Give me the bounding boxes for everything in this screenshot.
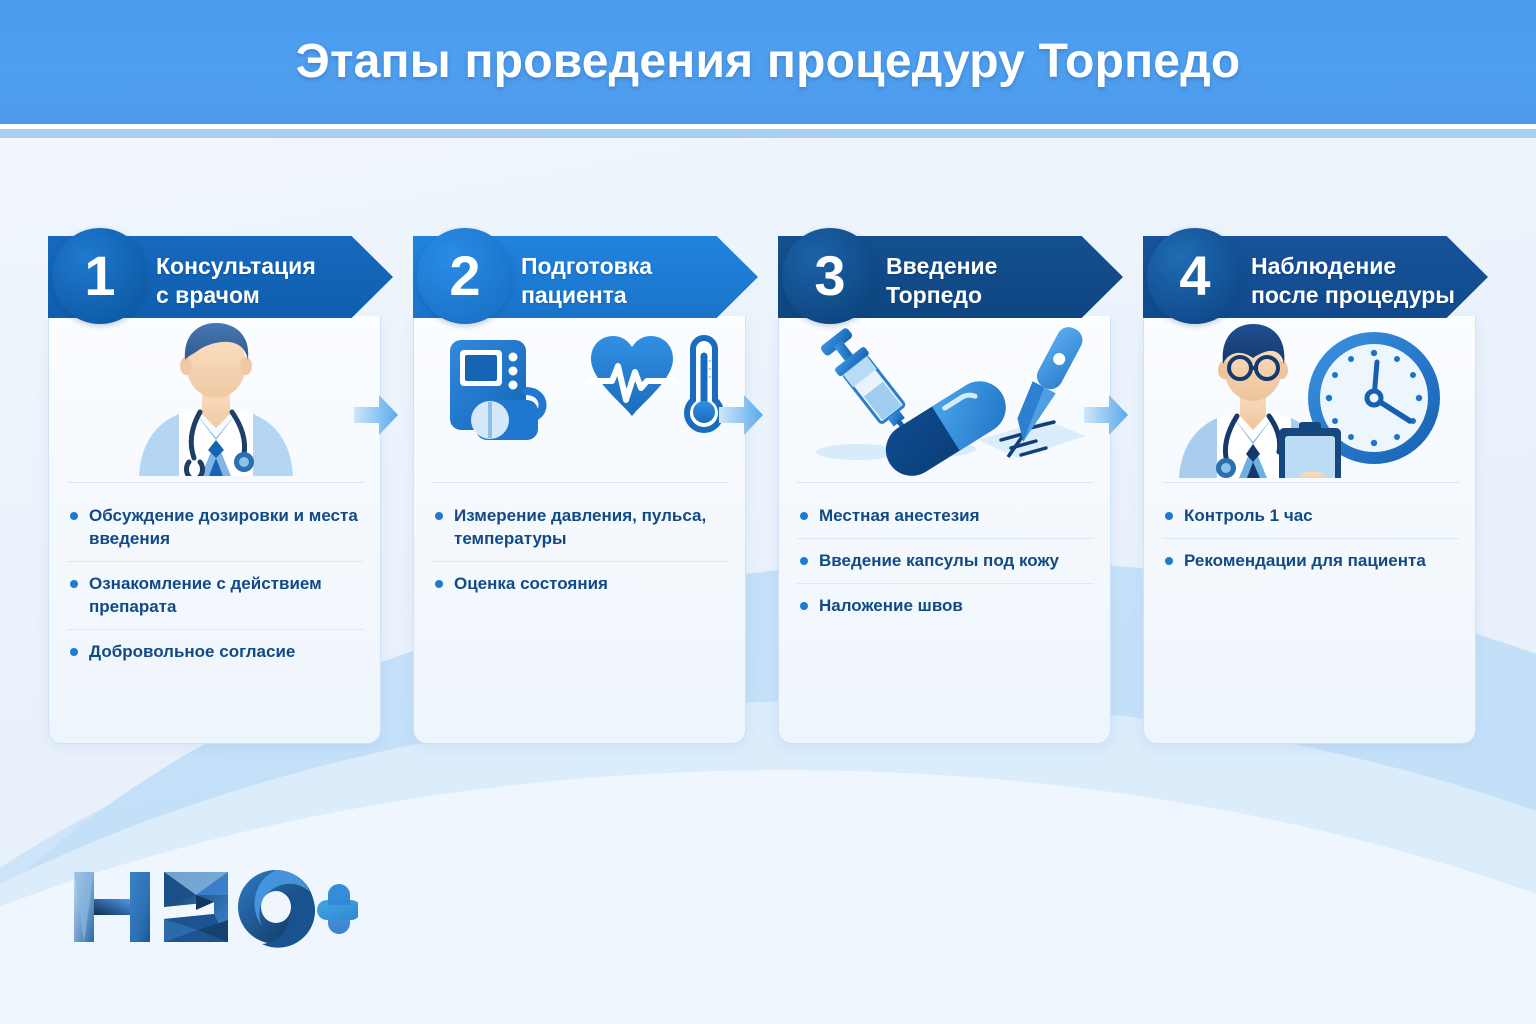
arrow-step1-to-step2 [352, 392, 400, 438]
bullet-label: Ознакомление с действием препарата [89, 572, 360, 618]
step-card-4-bullets: Контроль 1 час Рекомендации для пациента [1162, 494, 1459, 583]
bullet-dot-icon [800, 557, 808, 565]
bullet-label: Измерение давления, пульса, температуры [454, 504, 725, 550]
step-card-2-body: Измерение давления, пульса, температуры … [413, 316, 746, 744]
list-item: Обсуждение дозировки и места введения [67, 494, 364, 562]
step-card-4-title-line2: после процедуры [1251, 281, 1471, 310]
step-card-1-title-line1: Консультация [156, 252, 376, 281]
page-title: Этапы проведения процедуру Торпедо [0, 34, 1536, 89]
step-card-3-body: Местная анестезия Введение капсулы под к… [778, 316, 1111, 744]
step-card-3-title: Введение Торпедо [886, 252, 1106, 310]
step-card-1-divider [67, 482, 364, 483]
list-item: Ознакомление с действием препарата [67, 562, 364, 630]
bullet-dot-icon [435, 512, 443, 520]
step-card-1-number: 1 [52, 228, 148, 324]
list-item: Контроль 1 час [1162, 494, 1459, 539]
vitals-icons-group [436, 316, 726, 476]
bullet-label: Рекомендации для пациента [1184, 549, 1426, 572]
arrow-step2-to-step3 [717, 392, 765, 438]
list-item: Рекомендации для пациента [1162, 539, 1459, 583]
step-card-2[interactable]: Измерение давления, пульса, температуры … [413, 228, 746, 744]
bullet-dot-icon [435, 580, 443, 588]
step-card-2-divider [432, 482, 729, 483]
steps-row: Обсуждение дозировки и места введения Оз… [48, 228, 1488, 744]
header-divider-blue [0, 129, 1536, 138]
list-item: Измерение давления, пульса, температуры [432, 494, 729, 562]
step-card-1-title: Консультация с врачом [156, 252, 376, 310]
bullet-label: Контроль 1 час [1184, 504, 1313, 527]
bullet-label: Оценка состояния [454, 572, 608, 595]
list-item: Местная анестезия [797, 494, 1094, 539]
step-card-2-title-line1: Подготовка [521, 252, 741, 281]
step-card-4-title: Наблюдение после процедуры [1251, 252, 1471, 310]
step-card-4[interactable]: Контроль 1 час Рекомендации для пациента… [1143, 228, 1476, 744]
bullet-label: Добровольное согласие [89, 640, 295, 663]
bullet-dot-icon [800, 602, 808, 610]
step-card-1-illustration [49, 316, 382, 484]
doctor-with-stethoscope-icon [101, 316, 331, 476]
bullet-label: Наложение швов [819, 594, 963, 617]
step-card-3[interactable]: Местная анестезия Введение капсулы под к… [778, 228, 1111, 744]
bullet-label: Обсуждение дозировки и места введения [89, 504, 360, 550]
bullet-dot-icon [70, 580, 78, 588]
step-card-3-bullets: Местная анестезия Введение капсулы под к… [797, 494, 1094, 628]
step-card-4-divider [1162, 482, 1459, 483]
list-item: Введение капсулы под кожу [797, 539, 1094, 584]
step-card-1-title-line2: с врачом [156, 281, 376, 310]
step-card-3-illustration [779, 316, 1112, 484]
step-card-4-title-line1: Наблюдение [1251, 252, 1471, 281]
step-card-2-title-line2: пациента [521, 281, 741, 310]
neo-plus-logo-icon [68, 862, 358, 952]
bullet-dot-icon [1165, 512, 1173, 520]
step-card-2-illustration [414, 316, 747, 484]
bullet-label: Местная анестезия [819, 504, 980, 527]
step-card-1-body: Обсуждение дозировки и места введения Оз… [48, 316, 381, 744]
step-card-1[interactable]: Обсуждение дозировки и места введения Оз… [48, 228, 381, 744]
step-card-3-title-line1: Введение [886, 252, 1106, 281]
step-card-3-divider [797, 482, 1094, 483]
bullet-dot-icon [800, 512, 808, 520]
blood-pressure-monitor-icon [450, 340, 543, 440]
page-header: Этапы проведения процедуру Торпедо [0, 0, 1536, 124]
step-card-2-bullets: Измерение давления, пульса, температуры … [432, 494, 729, 606]
step-card-4-illustration [1144, 316, 1477, 484]
step-card-1-bullets: Обсуждение дозировки и места введения Оз… [67, 494, 364, 675]
neo-plus-logo[interactable] [68, 862, 358, 952]
step-card-3-title-line2: Торпедо [886, 281, 1106, 310]
logo-letter-N [74, 872, 150, 942]
step-card-2-title: Подготовка пациента [521, 252, 741, 310]
arrow-step3-to-step4 [1082, 392, 1130, 438]
list-item: Оценка состояния [432, 562, 729, 606]
step-card-4-number: 4 [1147, 228, 1243, 324]
arrow-right-icon [717, 392, 765, 438]
procedure-icons-group [796, 316, 1096, 476]
bullet-dot-icon [1165, 557, 1173, 565]
bullet-label: Введение капсулы под кожу [819, 549, 1059, 572]
step-card-3-number: 3 [782, 228, 878, 324]
thermometer-icon [687, 338, 721, 430]
infographic-canvas: Этапы проведения процедуру Торпедо [0, 0, 1536, 1024]
step-card-4-body: Контроль 1 час Рекомендации для пациента [1143, 316, 1476, 744]
heart-pulse-icon [588, 336, 676, 416]
list-item: Добровольное согласие [67, 630, 364, 674]
logo-letter-O [238, 870, 315, 948]
bullet-dot-icon [70, 512, 78, 520]
list-item: Наложение швов [797, 584, 1094, 628]
arrow-right-icon [1082, 392, 1130, 438]
logo-letter-E [164, 872, 228, 942]
observation-icons-group [1161, 316, 1461, 478]
step-card-2-number: 2 [417, 228, 513, 324]
arrow-right-icon [352, 392, 400, 438]
logo-plus-sign [317, 884, 358, 934]
bullet-dot-icon [70, 648, 78, 656]
